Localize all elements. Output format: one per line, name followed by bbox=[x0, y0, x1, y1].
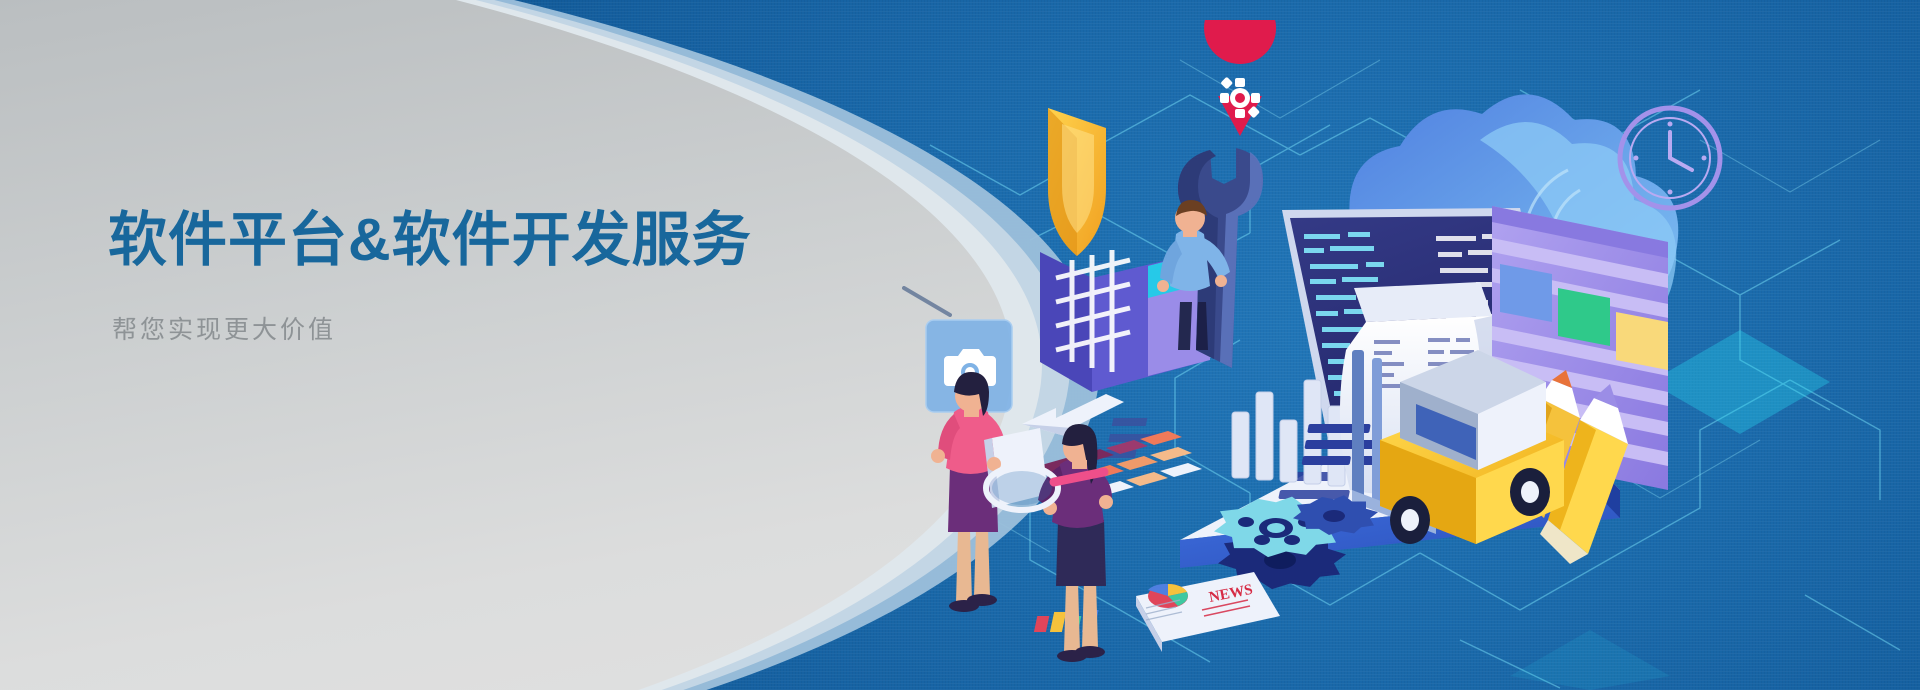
clock-icon bbox=[1620, 108, 1720, 208]
shield-icon bbox=[1048, 108, 1106, 256]
sticky-note-yellow bbox=[1616, 312, 1668, 370]
pie-chart-icon bbox=[1148, 584, 1188, 608]
bar-chart-3d bbox=[1105, 380, 1345, 486]
analyst-person-purple bbox=[1038, 424, 1113, 662]
page-title: 软件平台&软件开发服务 bbox=[108, 206, 868, 276]
hero-copy: 软件平台&软件开发服务 帮您实现更大价值 bbox=[108, 206, 868, 346]
sticky-note-green bbox=[1558, 288, 1610, 346]
isometric-illustration: NEWS bbox=[880, 20, 1920, 680]
page-subtitle: 帮您实现更大价值 bbox=[112, 310, 868, 346]
sticky-note-blue bbox=[1500, 264, 1552, 322]
hero-banner: NEWS bbox=[0, 0, 1920, 690]
gear-pin-icon bbox=[1204, 20, 1276, 136]
